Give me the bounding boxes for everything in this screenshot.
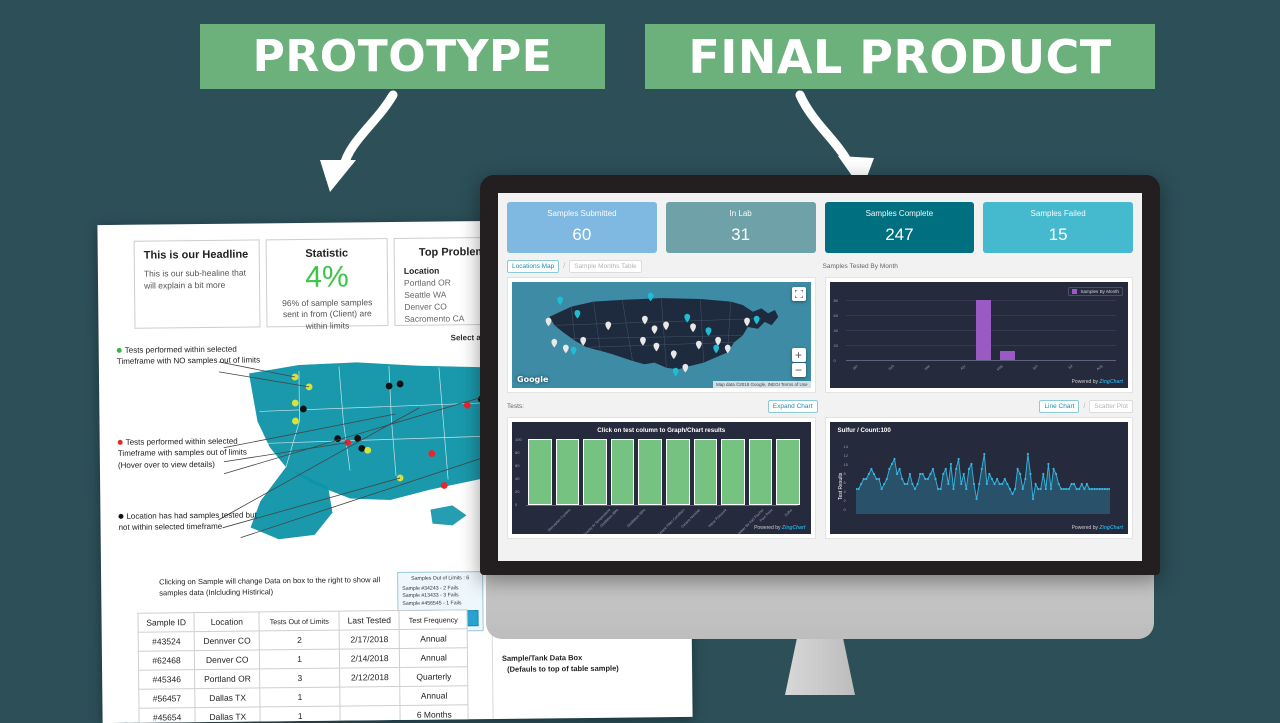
x-tick: Distillation 95% — [626, 508, 646, 528]
fullscreen-icon[interactable] — [792, 287, 806, 301]
y-tick: 60 — [515, 463, 519, 468]
tab-separator: / — [1083, 403, 1085, 410]
samples-by-month-chart[interactable]: Samples By Month 80 60 40 20 0 — [830, 282, 1129, 388]
cell-last-tested: 2/17/2018 — [339, 629, 400, 649]
kpi-samples-submitted[interactable]: Samples Submitted 60 — [507, 202, 657, 253]
y-axis-label: Test Results — [838, 473, 844, 500]
dashboard-screen: Samples Submitted 60 In Lab 31 Samples C… — [498, 193, 1142, 561]
test-bar[interactable] — [776, 439, 800, 505]
tests-row: Tests: Expand Chart Line Chart / Scatter… — [498, 397, 1142, 415]
sulfur-results-panel: Sulfur / Count:100 Test Results 14 12 10… — [825, 417, 1134, 539]
zingchart-brand: ZingChart — [1099, 379, 1123, 385]
y-tick: 2 — [844, 498, 846, 503]
statistic-card-value: 4% — [276, 261, 378, 294]
zingchart-brand: ZingChart — [782, 525, 806, 531]
chart-title: Sulfur / Count:100 — [838, 427, 891, 434]
test-bar[interactable] — [694, 439, 718, 505]
test-bar[interactable] — [556, 439, 580, 505]
monitor-chin — [486, 567, 1154, 639]
kpi-value: 31 — [668, 225, 814, 245]
kpi-value: 60 — [509, 225, 655, 245]
kpi-value: 247 — [827, 225, 973, 245]
tab-separator: / — [563, 263, 565, 270]
kpi-row: Samples Submitted 60 In Lab 31 Samples C… — [498, 193, 1142, 257]
axis-line — [846, 360, 1116, 361]
zingchart-brand: ZingChart — [1099, 525, 1123, 531]
y-tick: 14 — [844, 444, 848, 449]
kpi-label: Samples Failed — [985, 209, 1131, 218]
green-dot-icon — [117, 348, 122, 353]
y-tick: 0 — [515, 502, 517, 507]
expand-chart-button[interactable]: Expand Chart — [768, 400, 818, 413]
kpi-label: In Lab — [668, 209, 814, 218]
cell-location: Dallas TX — [195, 707, 260, 723]
y-tick: 20 — [515, 489, 519, 494]
cell-frequency: Annual — [400, 686, 468, 706]
data-box-subtitle: (Defauls to top of table sample) — [502, 662, 662, 675]
zingchart-credit: Powered by ZingChart — [1072, 525, 1123, 531]
red-dot-icon — [118, 440, 123, 445]
kpi-value: 15 — [985, 225, 1131, 245]
samples-tested-by-month-label: Samples Tested By Month — [823, 263, 898, 270]
bar-apr[interactable] — [976, 300, 991, 360]
col-tests-out-of-limits: Tests Out of Limits — [259, 611, 339, 631]
cell-location: Portland OR — [195, 669, 260, 689]
y-tick: 40 — [834, 328, 838, 333]
x-tick: Mercaptan Content — [547, 508, 571, 532]
bar-group — [528, 439, 800, 505]
black-dot-icon — [118, 514, 123, 519]
tests-bar-chart[interactable]: Click on test column to Graph/Chart resu… — [512, 422, 811, 534]
test-bar[interactable] — [666, 439, 690, 505]
cell-tests-out: 1 — [260, 649, 340, 669]
credit-prefix: Powered by — [1072, 525, 1100, 531]
tests-chart-panel: Click on test column to Graph/Chart resu… — [507, 417, 816, 539]
y-tick: 100 — [515, 437, 522, 442]
chart-legend: Samples By Month — [1068, 287, 1123, 296]
tab-scatter-plot[interactable]: Scatter Plot — [1089, 400, 1133, 413]
cell-tests-out: 3 — [260, 668, 340, 688]
legend-note-text: Location has had samples tested but not … — [119, 510, 257, 532]
y-tick: 8 — [844, 471, 846, 476]
cell-frequency: 6 Months — [400, 705, 468, 723]
imac-monitor: Samples Submitted 60 In Lab 31 Samples C… — [480, 175, 1160, 645]
cell-location: Dennver CO — [194, 631, 259, 651]
y-tick: 60 — [834, 313, 838, 318]
zingchart-credit: Powered by ZingChart — [1072, 379, 1123, 385]
test-bar[interactable] — [528, 439, 552, 505]
x-tick: Aug — [1095, 364, 1102, 371]
kpi-samples-failed[interactable]: Samples Failed 15 — [983, 202, 1133, 253]
map-markers — [512, 282, 811, 388]
x-tick: May — [995, 364, 1003, 372]
banner-final-product: FINAL PRODUCT — [645, 24, 1155, 89]
google-logo: Google — [517, 375, 548, 384]
cell-frequency: Annual — [400, 648, 468, 668]
chart-title: Click on test column to Graph/Chart resu… — [597, 427, 725, 434]
bottom-panels: Click on test column to Graph/Chart resu… — [498, 415, 1142, 539]
col-last-tested: Last Tested — [339, 610, 400, 630]
map-tabs-row: Locations Map / Sample Months Table Samp… — [498, 257, 1142, 275]
headline-card-body: This is our sub-healine that will explai… — [144, 267, 250, 293]
samples-by-month-panel: Samples By Month 80 60 40 20 0 — [825, 277, 1134, 393]
col-sample-id: Sample ID — [138, 613, 194, 633]
kpi-label: Samples Complete — [827, 209, 973, 218]
tests-label: Tests: — [507, 403, 524, 410]
axis-line — [526, 505, 798, 506]
y-tick: 10 — [844, 462, 848, 467]
google-map[interactable]: + − Google Map data ©2018 Google, INEGI … — [512, 282, 811, 388]
table-row[interactable]: #45654Dallas TX16 Months — [139, 705, 468, 723]
tab-line-chart[interactable]: Line Chart — [1039, 400, 1079, 413]
sample-tank-data-box-note: Sample/Tank Data Box (Defauls to top of … — [502, 651, 662, 675]
banner-prototype: PROTOTYPE — [200, 24, 605, 89]
x-tick: Feb — [887, 364, 894, 371]
legend-label: Samples By Month — [1080, 289, 1119, 294]
tab-locations-map[interactable]: Locations Map — [507, 260, 559, 273]
x-tick: Sulfur — [784, 508, 793, 517]
y-tick: 0 — [844, 507, 846, 512]
x-tick: Apr — [959, 364, 966, 371]
col-test-frequency: Test Frequency — [399, 610, 467, 630]
kpi-label: Samples Submitted — [509, 209, 655, 218]
y-tick: 80 — [515, 450, 519, 455]
cell-location: Dallas TX — [195, 688, 260, 708]
tooltip-title: Samples Out of Limits : 6 — [402, 575, 478, 583]
cell-last-tested — [340, 686, 401, 706]
tab-sample-months-table[interactable]: Sample Months Table — [569, 260, 641, 273]
y-tick: 20 — [834, 343, 838, 348]
locations-map-panel: + − Google Map data ©2018 Google, INEGI … — [507, 277, 816, 393]
cell-frequency: Annual — [400, 629, 468, 649]
select-a-label: Select a — [451, 333, 481, 342]
test-bar[interactable] — [583, 439, 607, 505]
cell-sample-id: #62468 — [138, 651, 194, 671]
x-tick: Mar — [923, 364, 930, 371]
prototype-headline-card: This is our Headline This is our sub-hea… — [134, 239, 261, 328]
map-attribution: Map data ©2018 Google, INEGI Terms of Us… — [713, 381, 811, 388]
sulfur-series — [856, 444, 1110, 514]
cell-location: Denver CO — [195, 650, 260, 670]
legend-note-no-limits: Tests performed within selected Timefram… — [117, 343, 267, 367]
cell-tests-out: 1 — [260, 687, 340, 707]
cell-last-tested: 2/12/2018 — [339, 667, 400, 687]
credit-prefix: Powered by — [1072, 379, 1100, 385]
cell-sample-id: #45346 — [139, 670, 195, 690]
statistic-card-title: Statistic — [276, 247, 378, 260]
tooltip-line: Sample #456545 - 1 Fails — [402, 600, 478, 608]
legend-note-out-of-limits: Tests performed within selected Timefram… — [118, 435, 268, 471]
headline-card-title: This is our Headline — [144, 249, 250, 262]
legend-note-text: Tests performed within selected Timefram… — [117, 345, 260, 367]
zoom-out-button[interactable]: − — [792, 363, 806, 377]
test-bar[interactable] — [749, 439, 773, 505]
y-tick: 12 — [844, 453, 848, 458]
sulfur-line-chart[interactable]: Sulfur / Count:100 Test Results 14 12 10… — [830, 422, 1129, 534]
zingchart-credit: Powered by ZingChart — [754, 525, 805, 531]
top-panels: + − Google Map data ©2018 Google, INEGI … — [498, 275, 1142, 393]
y-tick: 80 — [834, 298, 838, 303]
cell-last-tested — [340, 705, 401, 723]
legend-note-text: Tests performed within selected Timefram… — [118, 437, 247, 470]
cell-tests-out: 1 — [260, 706, 340, 723]
kpi-samples-complete[interactable]: Samples Complete 247 — [825, 202, 975, 253]
x-tick: Jun — [1031, 364, 1038, 371]
x-tick: Vapor Pressure — [707, 508, 727, 528]
sample-table-note: Clicking on Sample will change Data on b… — [159, 574, 384, 599]
zoom-in-button[interactable]: + — [792, 348, 806, 362]
cell-tests-out: 2 — [260, 630, 340, 650]
col-location: Location — [194, 612, 259, 632]
legend-swatch — [1072, 289, 1077, 294]
cell-sample-id: #56457 — [139, 689, 195, 709]
bar-may[interactable] — [1000, 351, 1015, 360]
test-bar[interactable] — [611, 439, 635, 505]
cell-frequency: Quarterly — [400, 667, 468, 687]
cell-sample-id: #43524 — [138, 632, 194, 652]
x-tick: Jan — [851, 364, 858, 371]
x-tick: Cetane Filter Condition — [657, 508, 686, 534]
statistic-card-caption: 96% of sample samples sent in from (Clie… — [276, 297, 378, 334]
test-bar[interactable] — [721, 439, 745, 505]
cell-last-tested: 2/14/2018 — [339, 648, 400, 668]
cell-sample-id: #45654 — [139, 708, 195, 723]
y-tick: 40 — [515, 476, 519, 481]
credit-prefix: Powered by — [754, 525, 782, 531]
sample-table: Sample ID Location Tests Out of Limits L… — [137, 609, 468, 723]
test-bar[interactable] — [638, 439, 662, 505]
legend-note-outside-timeframe: Location has had samples tested but not … — [118, 509, 268, 533]
y-tick: 4 — [844, 489, 846, 494]
y-tick: 0 — [834, 358, 836, 363]
prototype-statistic-card: Statistic 4% 96% of sample samples sent … — [266, 238, 389, 327]
x-tick: Jul — [1067, 364, 1073, 370]
monitor-bezel: Samples Submitted 60 In Lab 31 Samples C… — [480, 175, 1160, 575]
monitor-stand-neck — [785, 635, 855, 695]
y-tick: 6 — [844, 480, 846, 485]
kpi-in-lab[interactable]: In Lab 31 — [666, 202, 816, 253]
